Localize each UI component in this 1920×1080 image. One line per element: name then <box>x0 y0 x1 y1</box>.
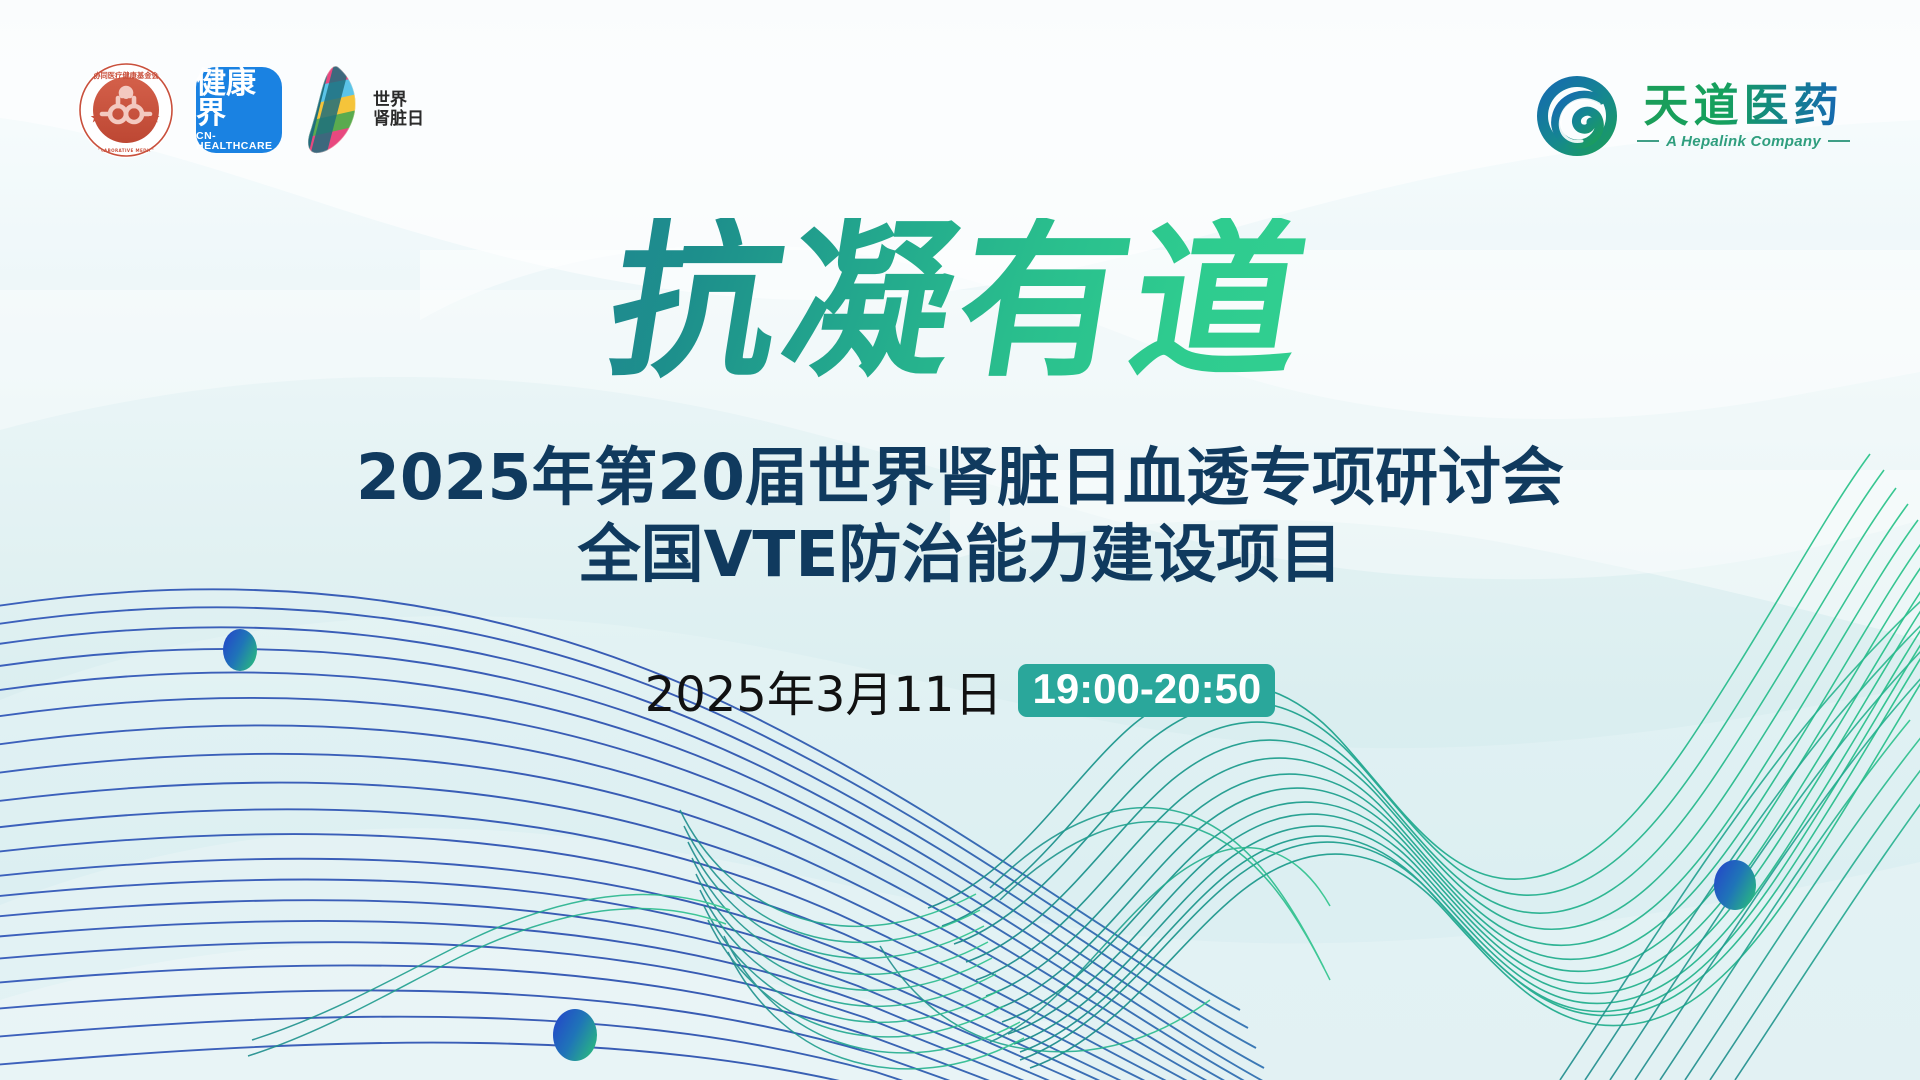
green-edge-sweep-lines <box>1560 566 1920 1080</box>
subtitle-line-2: 全国VTE防治能力建设项目 <box>0 517 1920 594</box>
cn-healthcare-en-label: CN-HEALTHCARE <box>196 131 282 152</box>
kidney-ribbon-icon <box>304 64 366 156</box>
svg-text:协同医疗健康基金会: 协同医疗健康基金会 <box>93 71 159 80</box>
partner-logo-strip: 协同医疗健康基金会 COLLABORATIVE MEDICINE 健康界 CN-… <box>78 62 424 158</box>
hero-title: 抗凝有道 <box>0 218 1920 386</box>
wave-spiral-circle-icon <box>1535 74 1619 158</box>
tagline-rule-right <box>1828 140 1850 142</box>
wkd-label-line2: 肾脏日 <box>373 110 424 129</box>
schedule-row: 2025年3月11日 19:00-20:50 <box>0 655 1920 725</box>
subtitle-line-1: 2025年第20届世界肾脏日血透专项研讨会 <box>0 440 1920 517</box>
event-time-badge: 19:00-20:50 <box>1018 664 1275 717</box>
hero-subtitle: 2025年第20届世界肾脏日血透专项研讨会 全国VTE防治能力建设项目 <box>0 440 1920 594</box>
svg-text:COLLABORATIVE MEDICINE: COLLABORATIVE MEDICINE <box>91 148 162 153</box>
world-kidney-day-logo: 世界 肾脏日 <box>304 64 424 156</box>
wkd-label-line1: 世界 <box>373 91 424 110</box>
teal-flowing-lines <box>248 808 1330 1069</box>
brand-name-zh: 天道医药 <box>1644 82 1844 129</box>
world-kidney-day-label: 世界 肾脏日 <box>373 91 424 129</box>
brand-tagline-en: A Hepalink Company <box>1666 133 1821 150</box>
brand-tagline-row: A Hepalink Company <box>1637 133 1850 150</box>
brand-logo: 天道医药 A Hepalink Company <box>1535 74 1850 158</box>
cn-healthcare-logo: 健康界 CN-HEALTHCARE <box>196 67 282 153</box>
gradient-dot-3 <box>1714 860 1756 910</box>
circular-seal-icon: 协同医疗健康基金会 COLLABORATIVE MEDICINE <box>78 62 174 158</box>
gradient-dot-2 <box>553 1009 597 1061</box>
hero-title-text: 抗凝有道 <box>599 218 1322 386</box>
webinar-poster: 协同医疗健康基金会 COLLABORATIVE MEDICINE 健康界 CN-… <box>0 0 1920 1080</box>
cn-healthcare-zh-label: 健康界 <box>196 69 282 129</box>
tagline-rule-left <box>1637 140 1659 142</box>
brand-text-block: 天道医药 A Hepalink Company <box>1637 82 1850 149</box>
event-date: 2025年3月11日 <box>645 655 1003 725</box>
collaborative-medical-foundation-logo: 协同医疗健康基金会 COLLABORATIVE MEDICINE <box>78 62 174 158</box>
